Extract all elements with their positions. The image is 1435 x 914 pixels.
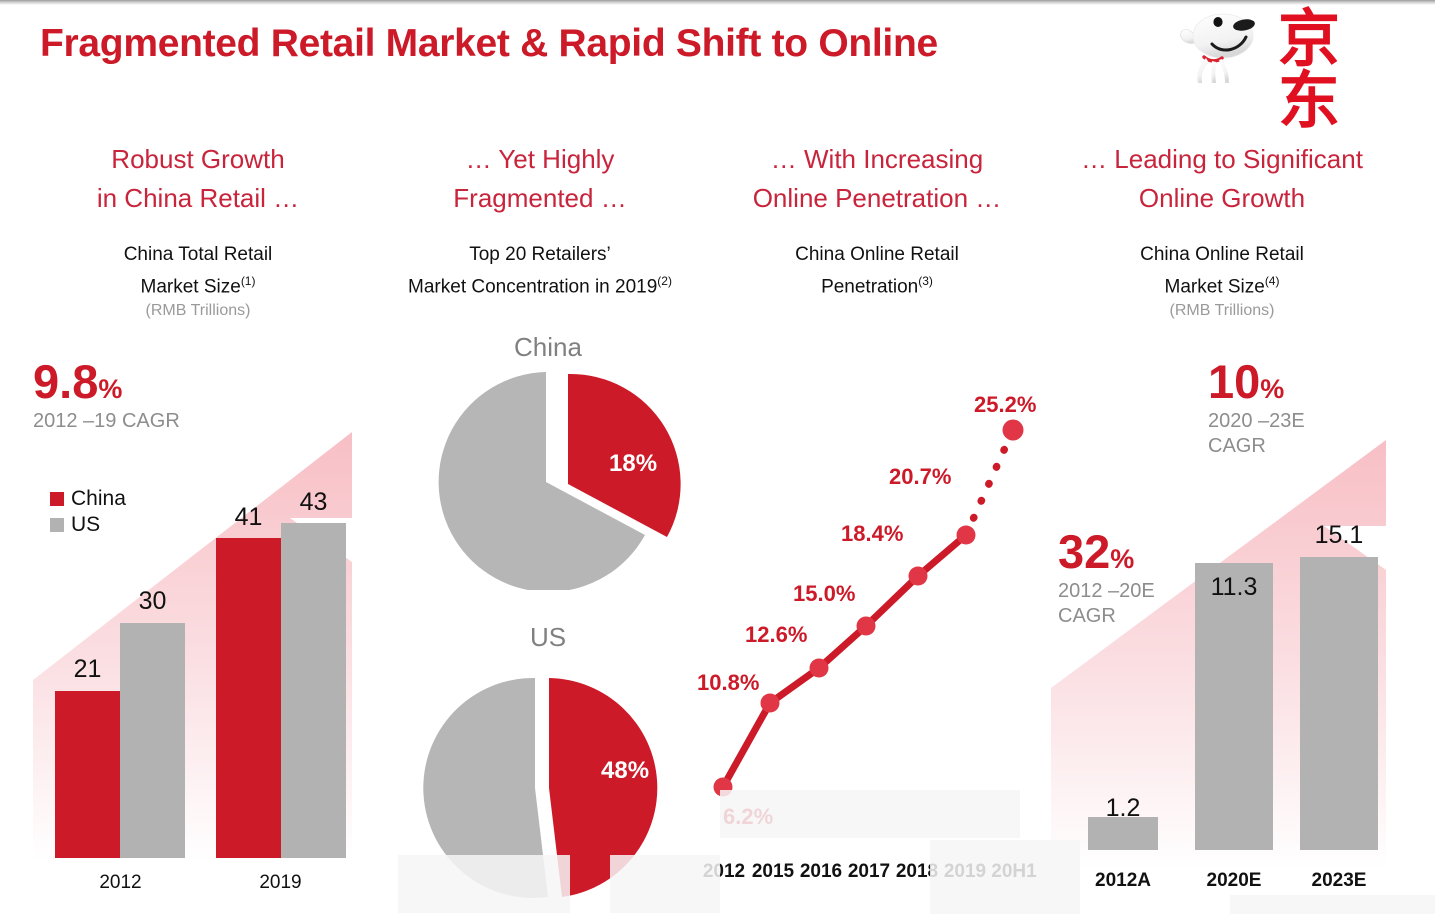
bar-2020e[interactable] — [1195, 563, 1273, 850]
bar-2023e[interactable] — [1300, 557, 1378, 850]
column-2-heading: … Yet Highly Fragmented … — [370, 140, 710, 218]
page-title: Fragmented Retail Market & Rapid Shift t… — [40, 22, 938, 66]
cagr-1-note: 2012 –19 CAGR — [33, 409, 180, 434]
xtick-2017: 2017 — [843, 861, 895, 883]
cagr-4b-value: 10 — [1208, 355, 1260, 408]
footnote-marker-4: (4) — [1265, 274, 1280, 288]
window-top-edge — [0, 0, 1435, 5]
cagr-callout-4b: 10% 2020 –23E CAGR — [1208, 358, 1305, 459]
xtick-2016: 2016 — [795, 861, 847, 883]
bottom-artifact-1 — [398, 855, 570, 913]
bar-label-2012a: 1.2 — [1088, 794, 1158, 823]
axis-label-2012: 2012 — [88, 872, 153, 894]
cagr-4b-note-2: CAGR — [1208, 434, 1305, 459]
column-1-unit: (RMB Trillions) — [28, 300, 368, 322]
jd-logo-text: 京东 — [1278, 8, 1393, 132]
axis-label-2012a: 2012A — [1086, 870, 1160, 892]
bottom-artifact-2 — [610, 855, 720, 913]
footnote-marker-1: (1) — [241, 274, 256, 288]
column-1: Robust Growth in China Retail … China To… — [28, 140, 368, 322]
axis-label-2019: 2019 — [248, 872, 313, 894]
column-3-heading: … With Increasing Online Penetration … — [712, 140, 1042, 218]
bar-label-2023e: 15.1 — [1300, 521, 1378, 550]
axis-label-2020e: 2020E — [1197, 870, 1271, 892]
point-label-2019: 20.7% — [889, 464, 951, 490]
column-1-heading: Robust Growth in China Retail … — [28, 140, 368, 218]
slide-canvas: Fragmented Retail Market & Rapid Shift t… — [0, 0, 1435, 914]
bottom-artifact-5 — [720, 790, 1020, 838]
xtick-2015: 2015 — [747, 861, 799, 883]
column-4-heading: … Leading to Significant Online Growth — [1052, 140, 1392, 218]
cagr-callout-1: 9.8% 2012 –19 CAGR — [33, 358, 180, 434]
column-2-subtitle: Top 20 Retailers’ Market Concentration i… — [370, 242, 710, 300]
bottom-artifact-4 — [1230, 895, 1435, 914]
point-20h1[interactable] — [1003, 420, 1024, 441]
column-1-subtitle: China Total Retail Market Size(1) — [28, 242, 368, 300]
cagr-1-value: 9.8 — [33, 355, 98, 408]
cagr-4b-pct: % — [1260, 374, 1284, 404]
column-4: … Leading to Significant Online Growth C… — [1052, 140, 1392, 322]
bottom-artifact-3 — [930, 840, 1080, 914]
column-4-subtitle: China Online Retail Market Size(4) — [1052, 242, 1392, 300]
chart-4-bars — [0, 500, 1435, 850]
jd-dog-mascot-icon — [1178, 8, 1274, 84]
footnote-marker-2: (2) — [657, 274, 672, 288]
column-3: … With Increasing Online Penetration … C… — [712, 140, 1042, 300]
pie-china-value-label: 18% — [609, 450, 657, 478]
column-3-subtitle: China Online Retail Penetration(3) — [712, 242, 1042, 300]
footnote-marker-3: (3) — [918, 274, 933, 288]
cagr-4b-note-1: 2020 –23E — [1208, 409, 1305, 434]
axis-label-2023e: 2023E — [1302, 870, 1376, 892]
column-4-unit: (RMB Trillions) — [1052, 300, 1392, 322]
jd-logo: 京东 — [1178, 6, 1393, 84]
pie-china-title: China — [398, 332, 698, 363]
column-2: … Yet Highly Fragmented … Top 20 Retaile… — [370, 140, 710, 300]
cagr-1-pct: % — [98, 374, 122, 404]
point-label-20h1: 25.2% — [974, 392, 1036, 418]
bar-label-2020e: 11.3 — [1195, 573, 1273, 602]
